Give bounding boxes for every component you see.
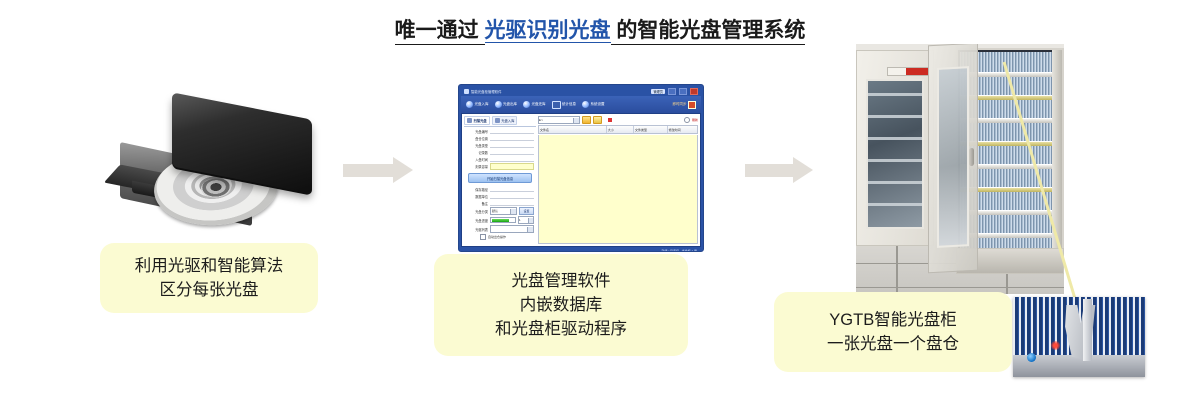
refresh-toggle[interactable]: 刷新: [684, 117, 698, 123]
chevron-down-icon: [527, 227, 533, 232]
field-label: 光盘进度: [466, 218, 488, 223]
column-filename[interactable]: 文件名: [539, 126, 607, 133]
scan-icon: [467, 118, 472, 123]
window-controls: 管理员: [651, 88, 698, 95]
field-label: 盘仓位置: [466, 136, 488, 141]
main-toolbar: 光盘入库 光盘出库 光盘还库 统计信息 系统设置 即时同步: [461, 96, 701, 113]
sync-icon: [688, 101, 696, 109]
checkbox-label: 自动出仓操作: [488, 235, 506, 239]
toolbar-item-sync[interactable]: 即时同步: [670, 97, 700, 112]
toolbar-item-disc-return[interactable]: 光盘还库: [520, 97, 549, 112]
field-input[interactable]: [490, 200, 534, 206]
disc-cabinet-photo: [856, 44, 1064, 294]
field-label: 备注: [466, 201, 488, 206]
toolbar-label: 即时同步: [673, 102, 687, 107]
toolbar-label: 光盘出库: [503, 102, 517, 107]
toolbar-item-disc-in[interactable]: 光盘入库: [463, 97, 492, 112]
drive-select-row[interactable]: 光驱列表: [464, 225, 536, 233]
path-toolbar: E:\ 刷新: [538, 116, 698, 124]
toolbar-label: 光盘还库: [532, 102, 546, 107]
cabinet-label: [887, 67, 929, 76]
stats-icon: [552, 101, 561, 109]
status-text: 就绪 / 已连接 · 光盘柜 1 号: [661, 249, 697, 253]
column-filetype[interactable]: 文件类型: [634, 126, 668, 133]
file-table-header: 文件名 大小 文件类型 修改时间: [538, 125, 698, 134]
disc-category-row[interactable]: 光盘分类 默认 设置: [464, 207, 536, 215]
field-label: 数据单位: [466, 194, 488, 199]
arrow-shaft: [745, 164, 795, 177]
field-disc-type[interactable]: 光盘类型: [464, 142, 536, 148]
user-badge: 管理员: [651, 89, 665, 94]
left-panel-tabs: 扫描光盘 光盘入库: [464, 116, 536, 127]
left-glass-door: [866, 79, 924, 229]
cabinet-left-unit: [856, 50, 934, 246]
arrow-head: [793, 157, 813, 183]
cabinet-right-frame: [1052, 50, 1062, 250]
field-disc-id[interactable]: 光盘编号: [464, 128, 536, 134]
window-title: 智能光盘柜管理软件: [471, 89, 502, 94]
caption-text: 光盘管理软件 内嵌数据库 和光盘柜驱动程序: [495, 269, 627, 341]
disc-in-icon: [495, 118, 500, 123]
folder-open-icon[interactable]: [593, 116, 602, 124]
disc-category-select[interactable]: 默认: [490, 207, 517, 215]
status-led-icon: [1027, 353, 1036, 362]
checkbox-box[interactable]: [480, 234, 486, 240]
field-input[interactable]: [490, 186, 534, 192]
title-part-1: 唯一通过: [395, 19, 485, 45]
field-input[interactable]: [490, 193, 534, 199]
title-part-2: 的智能光盘管理系统: [611, 19, 806, 45]
column-modified[interactable]: 修改时间: [668, 126, 697, 133]
gripper-arm: [1083, 299, 1092, 361]
field-record-count[interactable]: 记录数: [464, 149, 536, 155]
refresh-label: 刷新: [692, 118, 698, 122]
field-insert-time[interactable]: 入盘时间: [464, 156, 536, 162]
stepper-arrows-icon[interactable]: [528, 218, 533, 223]
caption-drive: 利用光驱和智能算法 区分每张光盘: [100, 243, 318, 313]
field-input[interactable]: [490, 149, 534, 155]
left-panel: 扫描光盘 光盘入库 光盘编号 盘仓位置 光盘类型: [464, 116, 536, 244]
toolbar-item-disc-out[interactable]: 光盘出库: [492, 97, 521, 112]
field-save-path[interactable]: 保存路径: [464, 186, 536, 192]
door-glass-panel: [937, 66, 969, 248]
tab-label: 扫描光盘: [474, 118, 487, 123]
field-input[interactable]: [490, 142, 534, 148]
cabinet-open-glass-door: [928, 44, 978, 273]
field-input[interactable]: [490, 163, 534, 170]
scan-progress-bar: [490, 217, 516, 223]
field-label: 记录数: [466, 150, 488, 155]
stepper-value: 1: [519, 218, 521, 222]
arrow-head: [393, 157, 413, 183]
scan-disc-button[interactable]: 开始扫描光盘信息: [468, 173, 532, 183]
right-panel: E:\ 刷新 文件名 大小 文件类型 修改时间: [538, 116, 698, 244]
field-label: 刻录容量: [466, 164, 488, 169]
field-remark[interactable]: 备注: [464, 200, 536, 206]
radio-icon[interactable]: [684, 117, 690, 123]
caption-software: 光盘管理软件 内嵌数据库 和光盘柜驱动程序: [434, 254, 688, 356]
arrow-shaft: [343, 164, 395, 177]
drive-select[interactable]: [490, 225, 534, 233]
toolbar-item-stats[interactable]: 统计信息: [549, 97, 580, 112]
field-data-unit[interactable]: 数据单位: [464, 193, 536, 199]
tab-label: 光盘入库: [501, 118, 514, 123]
disc-hub: [200, 177, 231, 198]
disc-category-settings-button[interactable]: 设置: [519, 207, 534, 215]
field-slot-position[interactable]: 盘仓位置: [464, 135, 536, 141]
field-input[interactable]: [490, 156, 534, 162]
select-value: 默认: [491, 209, 510, 213]
optical-drive-photo: [112, 104, 320, 220]
disc-out-icon: [495, 101, 502, 108]
tab-scan-disc[interactable]: 扫描光盘: [464, 116, 490, 125]
door-handle[interactable]: [969, 148, 974, 166]
path-select[interactable]: E:\: [538, 116, 580, 124]
folder-up-icon[interactable]: [582, 116, 591, 124]
disc-in-icon: [466, 101, 473, 108]
arrow-drive-to-software-icon: [343, 157, 413, 183]
minimize-button[interactable]: [668, 88, 676, 95]
toolbar-label: 统计信息: [562, 102, 576, 107]
column-size[interactable]: 大小: [607, 126, 634, 133]
field-label: 光盘分类: [466, 209, 488, 214]
caption-text: 利用光驱和智能算法 区分每张光盘: [135, 254, 284, 302]
path-value: E:\: [539, 118, 543, 122]
gear-icon: [582, 101, 589, 108]
caption-text: YGTB智能光盘柜 一张光盘一个盘仓: [827, 308, 959, 356]
chevron-down-icon: [573, 118, 579, 123]
field-label: 光盘类型: [466, 143, 488, 148]
maximize-button[interactable]: [679, 88, 687, 95]
auto-eject-checkbox[interactable]: 自动出仓操作: [464, 234, 536, 240]
tab-disc-in[interactable]: 光盘入库: [492, 116, 518, 125]
close-button[interactable]: [690, 88, 698, 95]
title-highlight: 光驱识别光盘: [485, 19, 611, 43]
window-titlebar: 智能光盘柜管理软件 管理员: [461, 87, 701, 96]
file-list[interactable]: [538, 135, 698, 244]
field-label: 光盘编号: [466, 129, 488, 134]
field-input[interactable]: [490, 135, 534, 141]
slide-canvas: 唯一通过 光驱识别光盘 的智能光盘管理系统 智能光盘柜管理软件 管理员: [0, 0, 1200, 400]
disc-slot-detail-photo: [1013, 297, 1145, 377]
disc-return-icon: [523, 101, 530, 108]
app-logo-icon: [464, 89, 469, 94]
chevron-down-icon: [510, 209, 516, 214]
window-body: 扫描光盘 光盘入库 光盘编号 盘仓位置 光盘类型: [461, 113, 701, 247]
count-stepper[interactable]: 1: [518, 216, 534, 224]
field-burn-capacity[interactable]: 刻录容量: [464, 163, 536, 170]
field-label: 保存路径: [466, 187, 488, 192]
software-screenshot[interactable]: 智能光盘柜管理软件 管理员 光盘入库 光盘出库 光盘还库: [458, 84, 704, 252]
arrow-software-to-cabinet-icon: [745, 157, 813, 183]
page-title: 唯一通过 光驱识别光盘 的智能光盘管理系统: [0, 14, 1200, 44]
stop-icon[interactable]: [608, 118, 612, 122]
caption-cabinet: YGTB智能光盘柜 一张光盘一个盘仓: [774, 292, 1012, 372]
laser-pointer-icon: [1051, 341, 1060, 350]
toolbar-item-settings[interactable]: 系统设置: [579, 97, 608, 112]
field-label: 入盘时间: [466, 157, 488, 162]
toolbar-label: 光盘入库: [475, 102, 489, 107]
toolbar-label: 系统设置: [591, 102, 605, 107]
field-input[interactable]: [490, 128, 534, 134]
status-bar: 就绪 / 已连接 · 光盘柜 1 号: [461, 247, 701, 252]
field-label: 光驱列表: [466, 227, 488, 232]
progress-row: 光盘进度 1: [464, 216, 536, 224]
